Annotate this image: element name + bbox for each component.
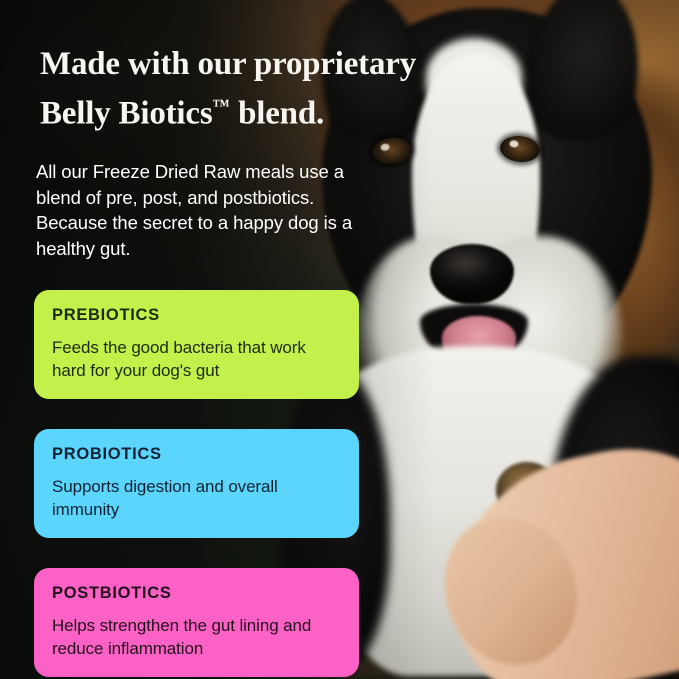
page-title: Made with our proprietary Belly Biotics™… — [40, 44, 470, 134]
card-postbiotics: POSTBIOTICS Helps strengthen the gut lin… — [34, 568, 359, 677]
intro-paragraph: All our Freeze Dried Raw meals use a ble… — [36, 159, 356, 261]
headline-brand: Belly Biotics — [40, 95, 212, 131]
headline-line-1: Made with our proprietary — [40, 46, 416, 82]
biotics-card-list: PREBIOTICS Feeds the good bacteria that … — [34, 290, 359, 677]
infographic-stage: Made with our proprietary Belly Biotics™… — [0, 0, 679, 679]
card-probiotics-title: PROBIOTICS — [52, 445, 341, 464]
overlay-content: Made with our proprietary Belly Biotics™… — [0, 0, 679, 679]
card-postbiotics-body: Helps strengthen the gut lining and redu… — [52, 614, 341, 660]
card-prebiotics: PREBIOTICS Feeds the good bacteria that … — [34, 290, 359, 399]
headline-line-2-suffix: blend. — [230, 95, 324, 131]
card-prebiotics-body: Feeds the good bacteria that work hard f… — [52, 336, 341, 382]
trademark-symbol: ™ — [212, 96, 230, 115]
card-probiotics: PROBIOTICS Supports digestion and overal… — [34, 429, 359, 538]
card-postbiotics-title: POSTBIOTICS — [52, 584, 341, 603]
card-probiotics-body: Supports digestion and overall immunity — [52, 475, 341, 521]
card-prebiotics-title: PREBIOTICS — [52, 306, 341, 325]
